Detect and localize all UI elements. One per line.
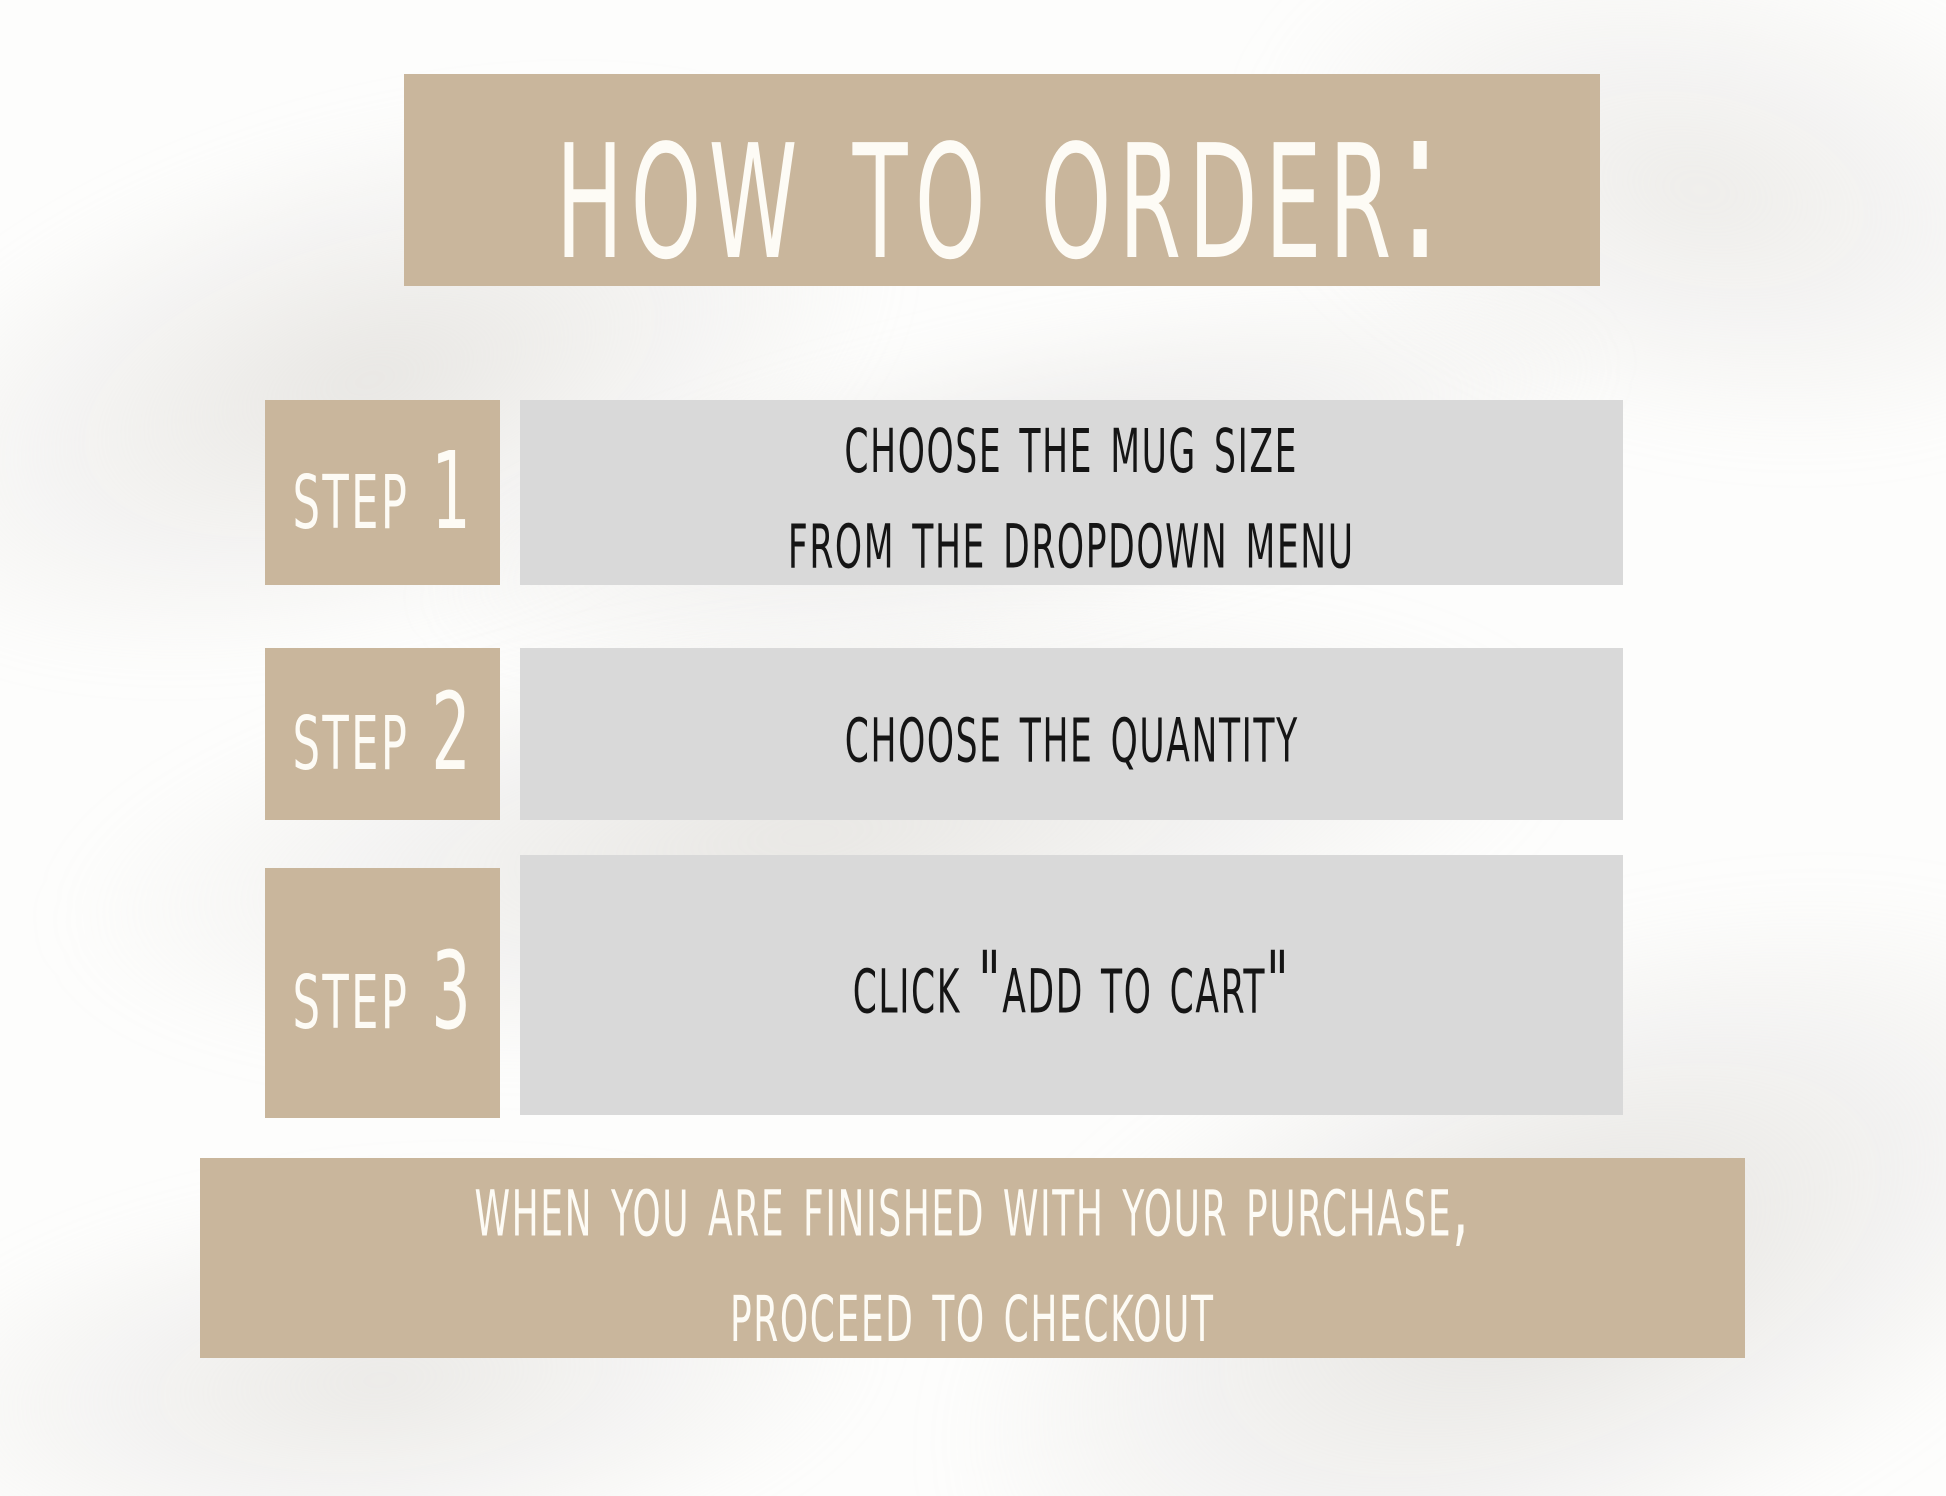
checkout-footer-banner: When you are finished with your purchase… — [200, 1158, 1745, 1358]
step-2-chip: Step 2 — [265, 648, 500, 820]
step-1-instruction-panel: Choose the mug size from the dropdown me… — [520, 400, 1623, 585]
step-1-chip: Step 1 — [265, 400, 500, 585]
how-to-order-poster: How to Order: Step 1 Choose the mug size… — [0, 0, 1946, 1496]
step-2-chip-label: Step 2 — [292, 679, 473, 790]
step-3-instruction-panel: Click "Add to Cart" — [520, 855, 1623, 1115]
step-3-chip-label: Step 3 — [292, 938, 473, 1049]
step-2-instruction-panel: Choose the quantity — [520, 648, 1623, 820]
step-3-instruction-text: Click "Add to Cart" — [853, 937, 1291, 1033]
step-1-instruction-text: Choose the mug size from the dropdown me… — [788, 397, 1355, 589]
step-2-instruction-text: Choose the quantity — [844, 686, 1298, 782]
checkout-footer-text: When you are finished with your purchase… — [475, 1152, 1471, 1363]
page-title: How to Order: — [555, 63, 1448, 296]
step-3-chip: Step 3 — [265, 868, 500, 1118]
title-banner: How to Order: — [404, 74, 1600, 286]
step-1-chip-label: Step 1 — [292, 437, 473, 548]
